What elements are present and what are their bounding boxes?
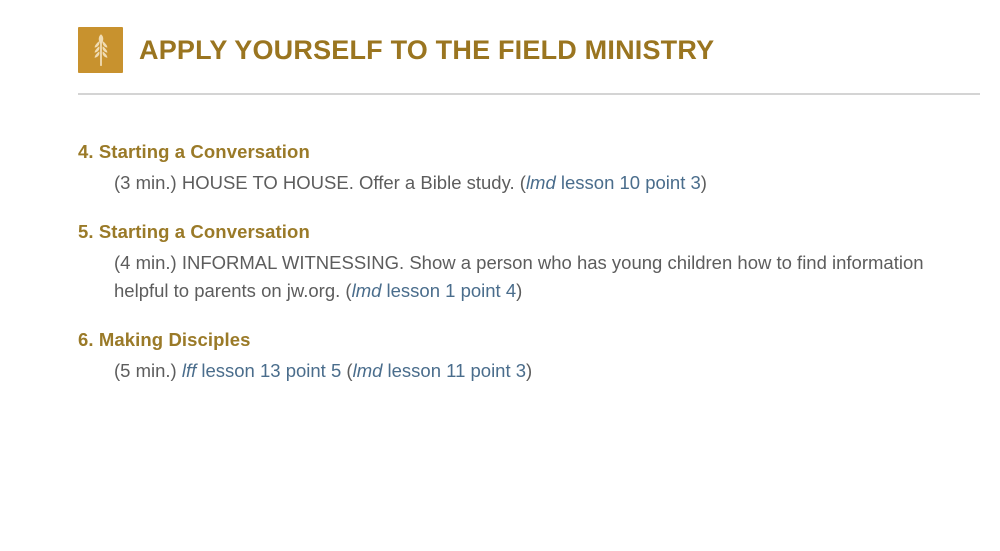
header-divider: [78, 93, 980, 95]
meeting-parts-list: 4. Starting a Conversation (3 min.) HOUS…: [78, 140, 982, 386]
part-description: (3 min.) HOUSE TO HOUSE. Offer a Bible s…: [114, 169, 982, 198]
reference-link[interactable]: lmd lesson 10 point 3: [526, 172, 701, 193]
page-root: APPLY YOURSELF TO THE FIELD MINISTRY 4. …: [0, 0, 1000, 551]
reference-detail: lesson 13 point 5: [196, 360, 346, 381]
list-item: 5. Starting a Conversation (4 min.) INFO…: [78, 220, 982, 306]
list-item: 6. Making Disciples (5 min.) lff lesson …: [78, 328, 982, 386]
page-title: APPLY YOURSELF TO THE FIELD MINISTRY: [139, 37, 714, 64]
reference-link[interactable]: lmd lesson 1 point 4: [352, 280, 517, 301]
part-body-text: HOUSE TO HOUSE. Offer a Bible study.: [177, 172, 520, 193]
publication-abbreviation: lmd: [526, 172, 556, 193]
part-description: (5 min.) lff lesson 13 point 5 (lmd less…: [114, 357, 982, 386]
part-heading: 5. Starting a Conversation: [78, 220, 982, 245]
section-header: APPLY YOURSELF TO THE FIELD MINISTRY: [78, 27, 980, 73]
reference-detail: lesson 1 point 4: [381, 280, 516, 301]
part-duration: (3 min.): [114, 172, 177, 193]
publication-abbreviation: lmd: [353, 360, 383, 381]
reference-close-paren: ): [701, 172, 707, 193]
part-description: (4 min.) INFORMAL WITNESSING. Show a per…: [114, 249, 982, 306]
reference-detail: lesson 10 point 3: [556, 172, 701, 193]
reference-link[interactable]: lmd lesson 11 point 3: [353, 360, 526, 381]
inline-reference-link[interactable]: lff lesson 13 point 5: [182, 360, 347, 381]
part-heading: 4. Starting a Conversation: [78, 140, 982, 165]
part-duration: (5 min.): [114, 360, 177, 381]
part-heading: 6. Making Disciples: [78, 328, 982, 353]
publication-abbreviation: lff: [182, 360, 196, 381]
publication-abbreviation: lmd: [352, 280, 382, 301]
wheat-stalk-icon: [78, 27, 123, 73]
reference-detail: lesson 11 point 3: [382, 360, 526, 381]
part-duration: (4 min.): [114, 252, 177, 273]
reference-close-paren: ): [526, 360, 532, 381]
list-item: 4. Starting a Conversation (3 min.) HOUS…: [78, 140, 982, 198]
reference-close-paren: ): [516, 280, 522, 301]
